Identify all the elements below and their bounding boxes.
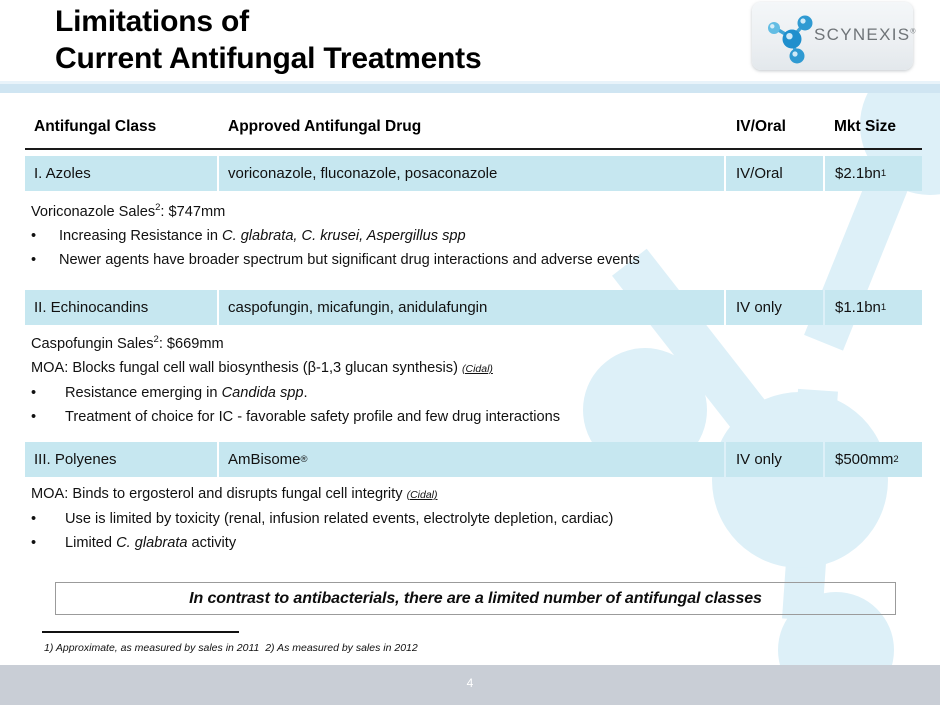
polyenes-details: MOA: Binds to ergosterol and disrupts fu… — [31, 482, 613, 555]
cell-drug-registered-mark: ® — [301, 454, 308, 465]
column-header-market: Mkt Size — [834, 118, 896, 136]
bullet-text-post: . — [304, 385, 308, 401]
cell-market: $500mm2 — [825, 442, 922, 477]
cidal-tag: (Cidal) — [407, 489, 438, 501]
list-item: •Resistance emerging in Candida spp. — [31, 381, 560, 405]
bullet-text: Increasing Resistance in C. glabrata, C.… — [59, 224, 466, 248]
cell-class: III. Polyenes — [25, 442, 217, 477]
table-row: I. Azoles voriconazole, fluconazole, pos… — [25, 156, 922, 191]
bullet-text-italic: Candida spp — [222, 385, 304, 401]
bullet-marker: • — [31, 531, 65, 555]
bullet-text-post: activity — [188, 535, 237, 551]
column-header-route: IV/Oral — [736, 118, 786, 136]
azoles-sales-line: Voriconazole Sales2: $747mm — [31, 196, 640, 224]
callout-box: In contrast to antibacterials, there are… — [55, 582, 896, 615]
azoles-details: Voriconazole Sales2: $747mm •Increasing … — [31, 196, 640, 272]
bullet-text-italic: C. glabrata, C. krusei, Aspergillus spp — [222, 228, 466, 244]
footnote-rule — [42, 631, 239, 633]
cell-drug: AmBisome® — [219, 442, 724, 477]
logo-trademark: ® — [910, 28, 916, 35]
polyenes-moa-line: MOA: Binds to ergosterol and disrupts fu… — [31, 482, 613, 507]
cell-route: IV/Oral — [726, 156, 823, 191]
page-title-line-1: Limitations of — [55, 3, 481, 40]
cell-market-value: $2.1bn — [835, 165, 881, 182]
footnote-text: 1) Approximate, as measured by sales in … — [44, 642, 418, 654]
cell-market: $2.1bn1 — [825, 156, 922, 191]
column-header-class: Antifungal Class — [34, 118, 156, 136]
bullet-marker: • — [31, 248, 59, 272]
azoles-sales-value: : $747mm — [160, 204, 225, 220]
page-title: Limitations of Current Antifungal Treatm… — [55, 3, 481, 77]
bullet-marker: • — [31, 381, 65, 405]
table-header-row: Antifungal Class Approved Antifungal Dru… — [25, 118, 922, 148]
bullet-text: Resistance emerging in Candida spp. — [65, 381, 308, 405]
logo-wordmark: SCYNEXIS® — [814, 25, 917, 45]
cell-market-value: $1.1bn — [835, 299, 881, 316]
cell-route: IV only — [726, 442, 823, 477]
cell-drug-value: AmBisome — [228, 451, 301, 468]
echinocandins-details: Caspofungin Sales2: $669mm MOA: Blocks f… — [31, 328, 560, 429]
page-number: 4 — [0, 676, 940, 690]
cell-market-footnote-ref: 1 — [881, 168, 886, 179]
callout-text: In contrast to antibacterials, there are… — [189, 590, 762, 608]
list-item: •Newer agents have broader spectrum but … — [31, 248, 640, 272]
bullet-text-plain: Limited — [65, 535, 116, 551]
table-header-underline — [25, 148, 922, 150]
echinocandins-sales-value: : $669mm — [159, 336, 224, 352]
bullet-text: Use is limited by toxicity (renal, infus… — [65, 507, 613, 531]
echinocandins-moa-text: MOA: Blocks fungal cell wall biosynthesi… — [31, 360, 462, 376]
cell-market-footnote-ref: 2 — [893, 454, 898, 465]
bullet-text: Treatment of choice for IC - favorable s… — [65, 405, 560, 429]
cell-market-footnote-ref: 1 — [881, 302, 886, 313]
cell-market-value: $500mm — [835, 451, 893, 468]
bullet-marker: • — [31, 224, 59, 248]
cell-class: I. Azoles — [25, 156, 217, 191]
echinocandins-sales-line: Caspofungin Sales2: $669mm — [31, 328, 560, 356]
cell-market: $1.1bn1 — [825, 290, 922, 325]
slide: Limitations of Current Antifungal Treatm… — [0, 0, 940, 705]
cell-class: II. Echinocandins — [25, 290, 217, 325]
page-title-line-2: Current Antifungal Treatments — [55, 40, 481, 77]
list-item: •Increasing Resistance in C. glabrata, C… — [31, 224, 640, 248]
bullet-text: Newer agents have broader spectrum but s… — [59, 248, 640, 272]
bullet-marker: • — [31, 507, 65, 531]
bullet-text-plain: Increasing Resistance in — [59, 228, 222, 244]
list-item: •Limited C. glabrata activity — [31, 531, 613, 555]
list-item: •Use is limited by toxicity (renal, infu… — [31, 507, 613, 531]
header-divider — [0, 84, 940, 93]
list-item: •Treatment of choice for IC - favorable … — [31, 405, 560, 429]
polyenes-moa-text: MOA: Binds to ergosterol and disrupts fu… — [31, 486, 407, 502]
bullet-text-italic: C. glabrata — [116, 535, 187, 551]
echinocandins-moa-line: MOA: Blocks fungal cell wall biosynthesi… — [31, 356, 560, 381]
cell-route: IV only — [726, 290, 823, 325]
table-row: III. Polyenes AmBisome® IV only $500mm2 — [25, 442, 922, 477]
bullet-text: Limited C. glabrata activity — [65, 531, 236, 555]
column-header-drug: Approved Antifungal Drug — [228, 118, 421, 136]
cell-drug: voriconazole, fluconazole, posaconazole — [219, 156, 724, 191]
echinocandins-sales-label: Caspofungin Sales — [31, 336, 154, 352]
table-row: II. Echinocandins caspofungin, micafungi… — [25, 290, 922, 325]
logo-wordmark-text: SCYNEXIS — [814, 25, 910, 44]
azoles-sales-label: Voriconazole Sales — [31, 204, 155, 220]
bullet-text-plain: Resistance emerging in — [65, 385, 222, 401]
bullet-marker: • — [31, 405, 65, 429]
scynexis-logo: SCYNEXIS® — [752, 2, 913, 70]
cidal-tag: (Cidal) — [462, 363, 493, 375]
cell-drug: caspofungin, micafungin, anidulafungin — [219, 290, 724, 325]
